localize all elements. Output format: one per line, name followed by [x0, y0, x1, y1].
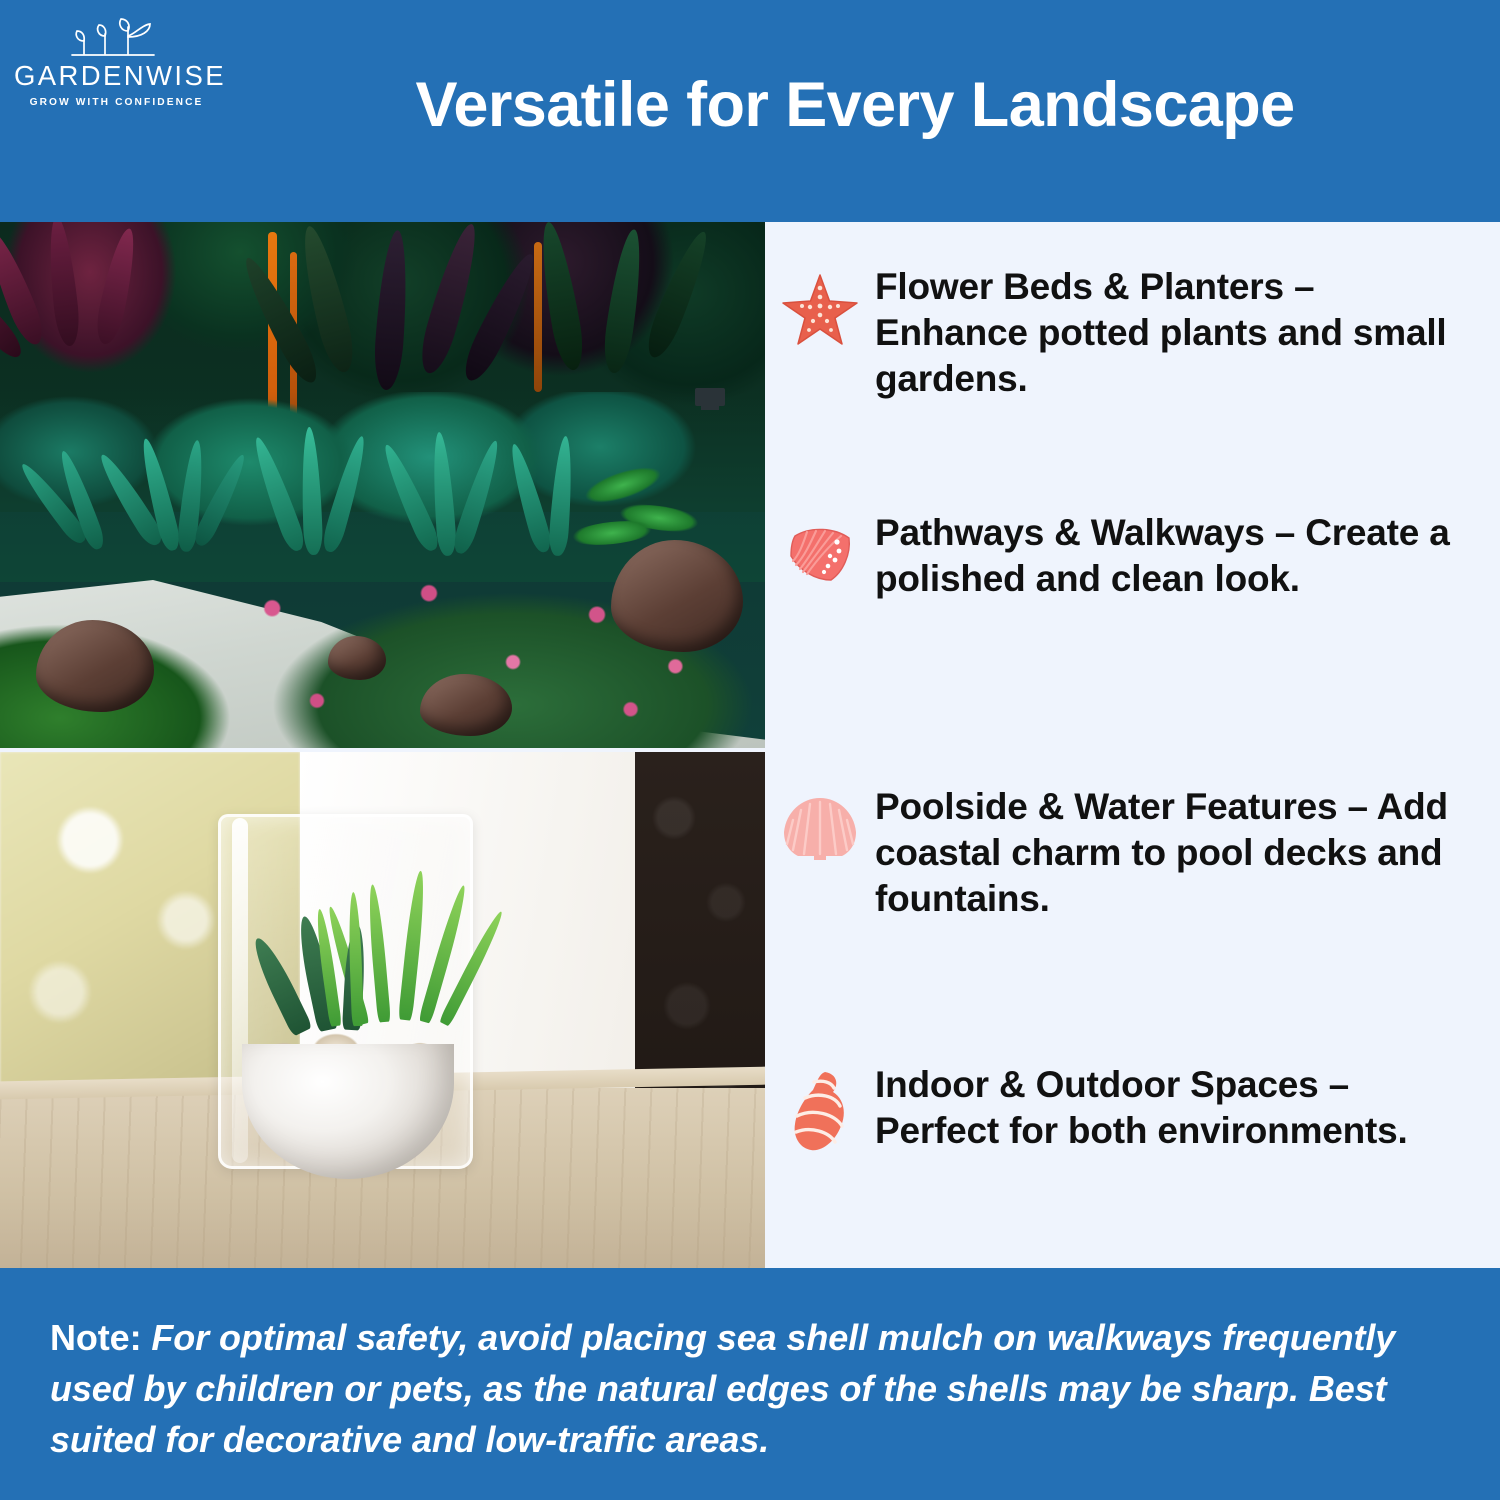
starfish-icon	[765, 264, 875, 348]
page-title: Versatile for Every Landscape	[220, 72, 1490, 138]
infographic-page: GARDENWISE GROW WITH CONFIDENCE Versatil…	[0, 0, 1500, 1500]
safety-note: Note: For optimal safety, avoid placing …	[50, 1312, 1460, 1465]
brand-tagline: GROW WITH CONFIDENCE	[14, 97, 219, 108]
list-item: Pathways & Walkways – Create a polished …	[765, 510, 1500, 602]
conch-shell-icon	[765, 1062, 875, 1154]
list-item: Indoor & Outdoor Spaces – Perfect for bo…	[765, 1062, 1500, 1154]
sprout-leaves-icon	[58, 16, 176, 60]
header-band: GARDENWISE GROW WITH CONFIDENCE Versatil…	[0, 0, 1500, 222]
garden-light-icon	[695, 388, 725, 406]
list-item-label: Indoor & Outdoor Spaces – Perfect for bo…	[875, 1062, 1500, 1154]
scallop-shell-icon	[765, 784, 875, 868]
benefits-list: Flower Beds & Planters – Enhance potted …	[765, 222, 1500, 1268]
tropical-garden-bed-photo	[0, 222, 765, 748]
list-item-label: Flower Beds & Planters – Enhance potted …	[875, 264, 1500, 402]
list-item-label: Pathways & Walkways – Create a polished …	[875, 510, 1500, 602]
indoor-succulent-terrarium-photo	[0, 752, 765, 1268]
fan-shell-icon	[765, 510, 875, 594]
list-item: Poolside & Water Features – Add coastal …	[765, 784, 1500, 922]
footer-band: Note: For optimal safety, avoid placing …	[0, 1268, 1500, 1500]
content-area: Flower Beds & Planters – Enhance potted …	[0, 222, 1500, 1268]
photo-column	[0, 222, 765, 1268]
list-item-label: Poolside & Water Features – Add coastal …	[875, 784, 1500, 922]
safety-note-text: For optimal safety, avoid placing sea sh…	[50, 1317, 1395, 1460]
brand-logo: GARDENWISE GROW WITH CONFIDENCE	[14, 16, 219, 108]
brand-name: GARDENWISE	[14, 62, 219, 90]
safety-note-label: Note:	[50, 1317, 142, 1358]
list-item: Flower Beds & Planters – Enhance potted …	[765, 264, 1500, 402]
